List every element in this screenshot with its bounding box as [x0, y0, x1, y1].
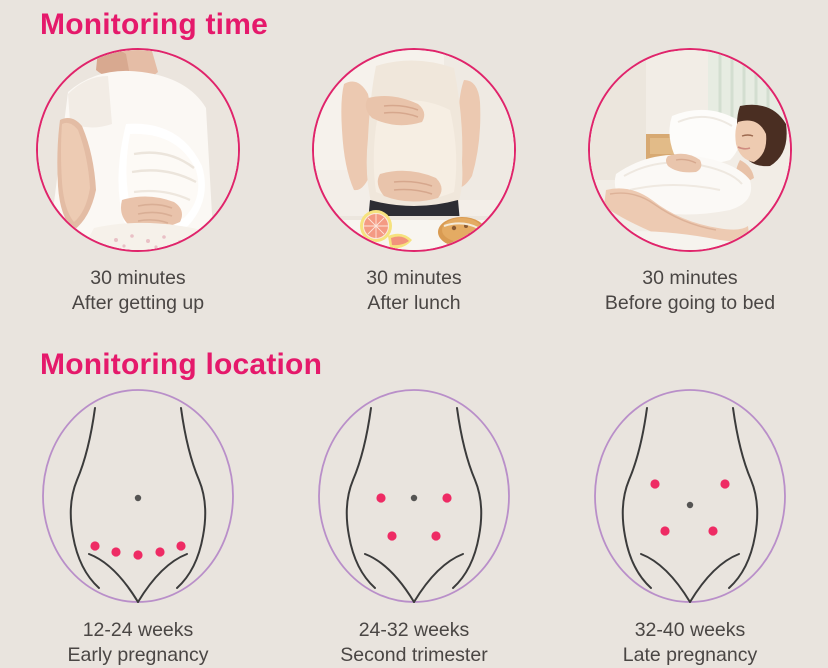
groin-line-right — [690, 554, 739, 602]
monitoring-dot — [431, 531, 440, 540]
monitoring-dot — [650, 479, 659, 488]
groin-line-left — [89, 554, 138, 602]
monitoring-time-row: 30 minutes After getting up — [0, 48, 828, 316]
section-heading-monitoring-location: Monitoring location — [40, 348, 322, 382]
monitoring-location-item-late-pregnancy: 32-40 weeks Late pregnancy — [559, 388, 821, 668]
photo-after-getting-up — [36, 48, 240, 252]
monitoring-dot — [90, 541, 99, 550]
caption-line1: 30 minutes — [90, 267, 185, 289]
caption-line1: 30 minutes — [642, 267, 737, 289]
caption-line1: 12-24 weeks — [83, 619, 194, 641]
caption-line1: 24-32 weeks — [359, 619, 470, 641]
photo-before-going-to-bed — [588, 48, 792, 252]
photo-illustration-seated-woman — [38, 50, 238, 250]
caption-late-pregnancy: 32-40 weeks Late pregnancy — [623, 618, 757, 668]
caption-early-pregnancy: 12-24 weeks Early pregnancy — [68, 618, 209, 668]
monitoring-dot — [708, 526, 717, 535]
groin-line-left — [365, 554, 414, 602]
caption-line2: After getting up — [72, 291, 204, 316]
torso-right-contour — [729, 408, 757, 588]
monitoring-time-item-before-bed: 30 minutes Before going to bed — [559, 48, 821, 316]
torso-right-contour — [453, 408, 481, 588]
abdomen-diagram-svg — [33, 388, 243, 610]
caption-line2: Early pregnancy — [68, 643, 209, 668]
caption-line2: Before going to bed — [605, 291, 775, 316]
caption-before-going-to-bed: 30 minutes Before going to bed — [605, 266, 775, 316]
photo-illustration-woman-reclining-in-bed — [590, 50, 790, 250]
monitoring-location-item-early-pregnancy: 12-24 weeks Early pregnancy — [7, 388, 269, 668]
infographic-page: Monitoring time — [0, 0, 828, 663]
torso-left-contour — [347, 408, 375, 588]
monitoring-time-item-after-lunch: 30 minutes After lunch — [283, 48, 545, 316]
groin-line-right — [138, 554, 187, 602]
caption-line2: Second trimester — [340, 643, 487, 668]
torso-left-contour — [71, 408, 99, 588]
diagram-second-trimester — [309, 388, 519, 610]
monitoring-dot — [111, 547, 120, 556]
monitoring-dot — [133, 550, 142, 559]
photo-after-lunch — [312, 48, 516, 252]
monitoring-dot — [155, 547, 164, 556]
caption-line2: After lunch — [366, 291, 461, 316]
abdomen-diagram-svg — [585, 388, 795, 610]
monitoring-dot — [442, 493, 451, 502]
monitoring-location-row: 12-24 weeks Early pregnancy — [0, 388, 828, 668]
monitoring-dot — [176, 541, 185, 550]
monitoring-dot — [376, 493, 385, 502]
caption-line1: 32-40 weeks — [635, 619, 746, 641]
diagram-late-pregnancy — [585, 388, 795, 610]
groin-line-right — [414, 554, 463, 602]
torso-left-contour — [623, 408, 651, 588]
photo-illustration-standing-woman-with-food — [314, 50, 514, 250]
groin-line-left — [641, 554, 690, 602]
monitoring-location-item-second-trimester: 24-32 weeks Second trimester — [283, 388, 545, 668]
abdomen-diagram-svg — [309, 388, 519, 610]
caption-line2: Late pregnancy — [623, 643, 757, 668]
monitoring-dot — [660, 526, 669, 535]
caption-second-trimester: 24-32 weeks Second trimester — [340, 618, 487, 668]
section-heading-monitoring-time: Monitoring time — [40, 8, 268, 42]
torso-right-contour — [177, 408, 205, 588]
caption-line1: 30 minutes — [366, 267, 461, 289]
caption-after-getting-up: 30 minutes After getting up — [72, 266, 204, 316]
monitoring-dot — [720, 479, 729, 488]
caption-after-lunch: 30 minutes After lunch — [366, 266, 461, 316]
monitoring-dot — [387, 531, 396, 540]
navel-marker — [135, 495, 141, 501]
monitoring-time-item-after-getting-up: 30 minutes After getting up — [7, 48, 269, 316]
diagram-early-pregnancy — [33, 388, 243, 610]
navel-marker — [411, 495, 417, 501]
navel-marker — [687, 502, 693, 508]
